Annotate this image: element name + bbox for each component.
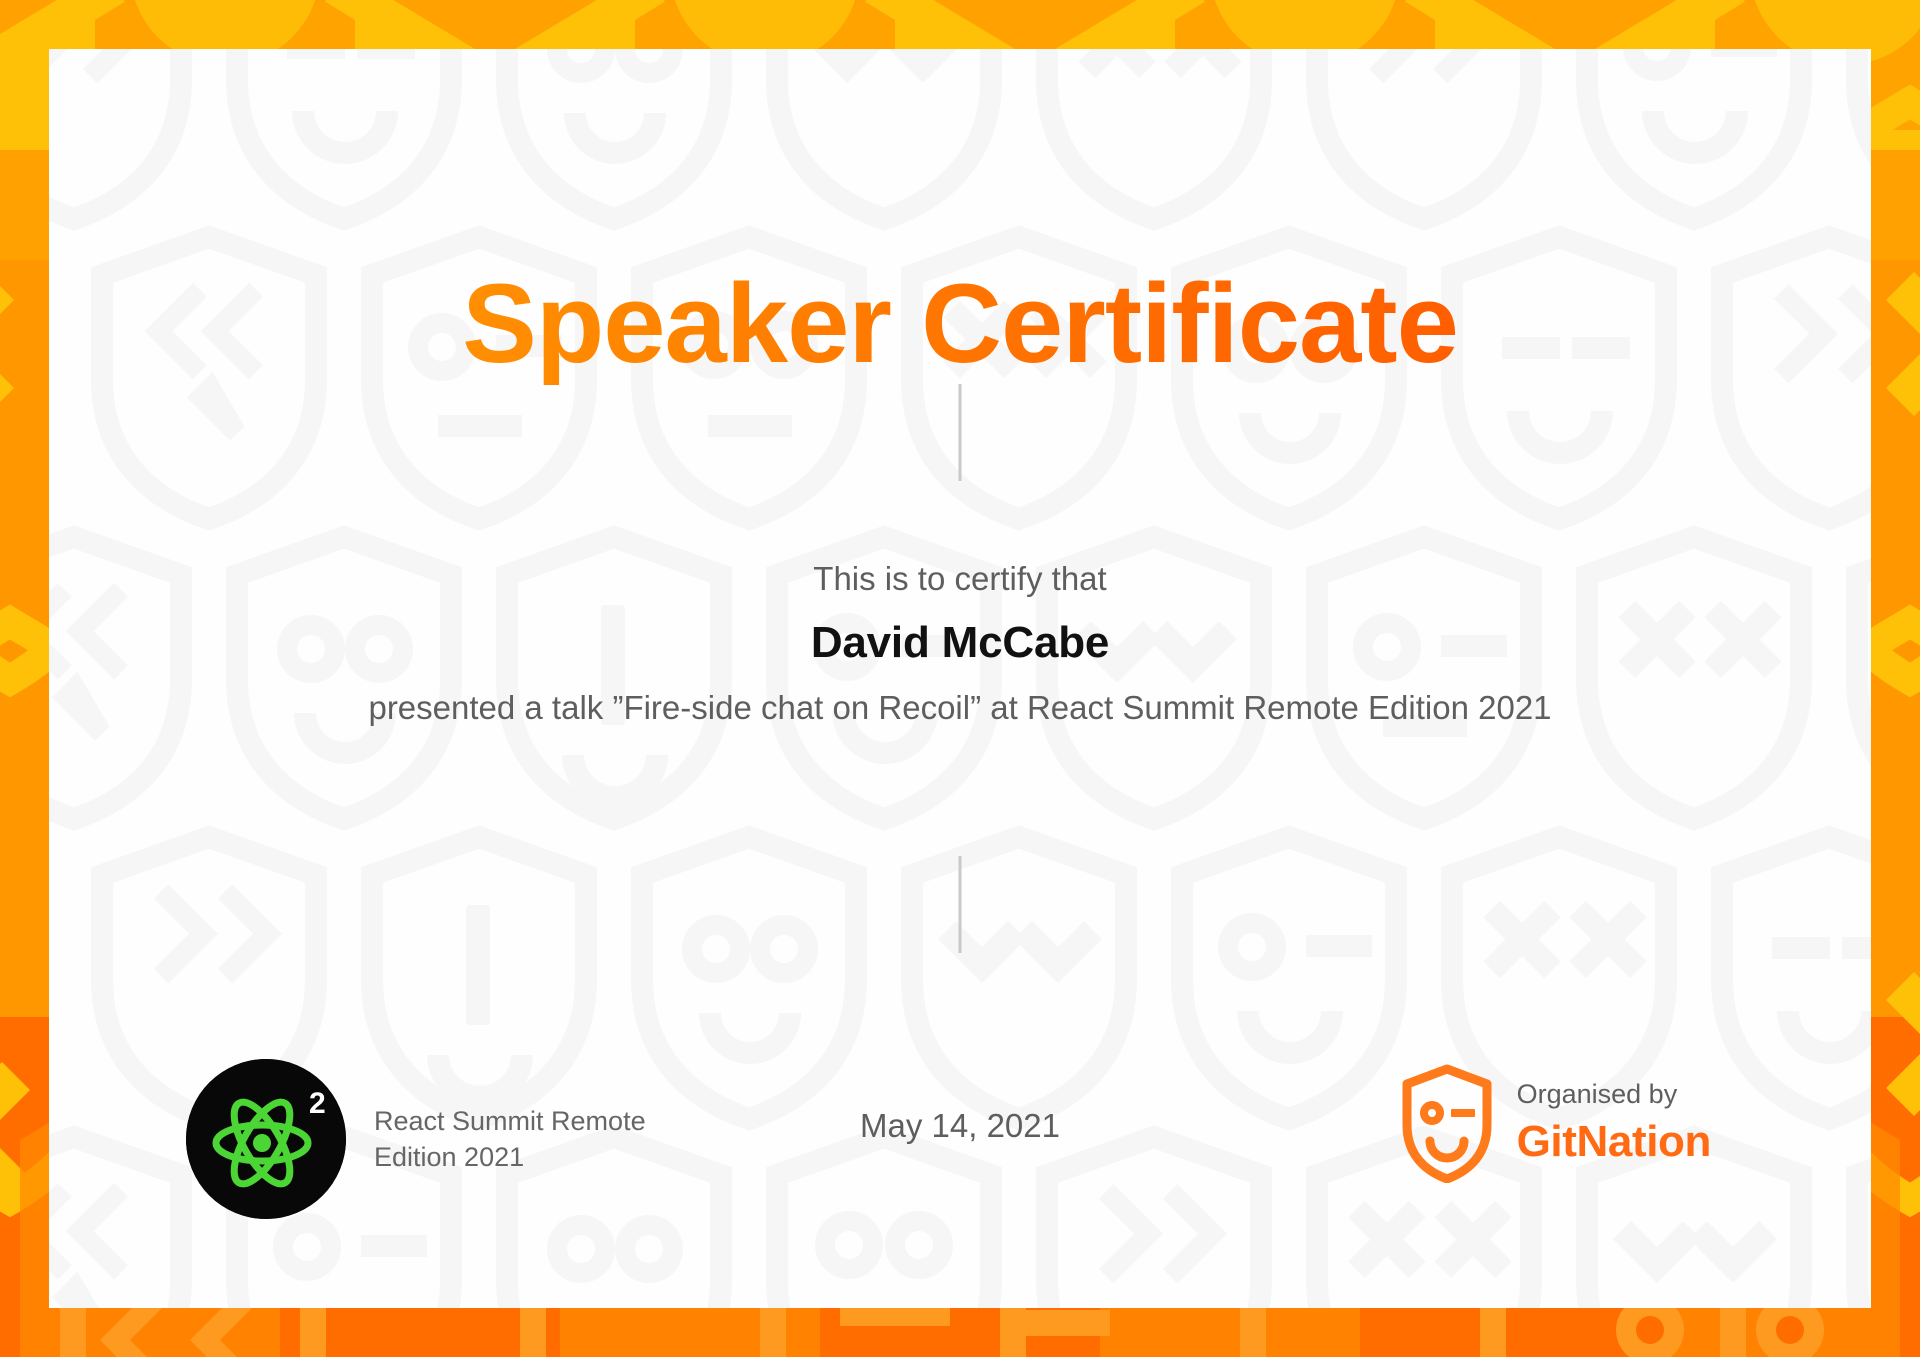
organiser-name: GitNation <box>1517 1118 1711 1166</box>
talk-description: presented a talk ”Fire-side chat on Reco… <box>49 689 1871 727</box>
divider-bottom <box>959 856 962 953</box>
organiser-text: Organised by GitNation <box>1517 1080 1711 1166</box>
gitnation-shield-face-icon <box>1399 1063 1495 1183</box>
recipient-name: David McCabe <box>49 618 1871 668</box>
certificate-card: Speaker Certificate This is to certify t… <box>49 49 1871 1308</box>
organiser-block: Organised by GitNation <box>1399 1063 1711 1183</box>
organiser-label: Organised by <box>1517 1080 1711 1110</box>
certify-line: This is to certify that <box>49 560 1871 598</box>
speaker-certificate: Speaker Certificate This is to certify t… <box>0 0 1920 1357</box>
certificate-footer: 2 React Summit Remote Edition 2021 May 1… <box>49 1049 1871 1229</box>
certificate-title: Speaker Certificate <box>49 262 1871 385</box>
divider-top <box>959 384 962 481</box>
